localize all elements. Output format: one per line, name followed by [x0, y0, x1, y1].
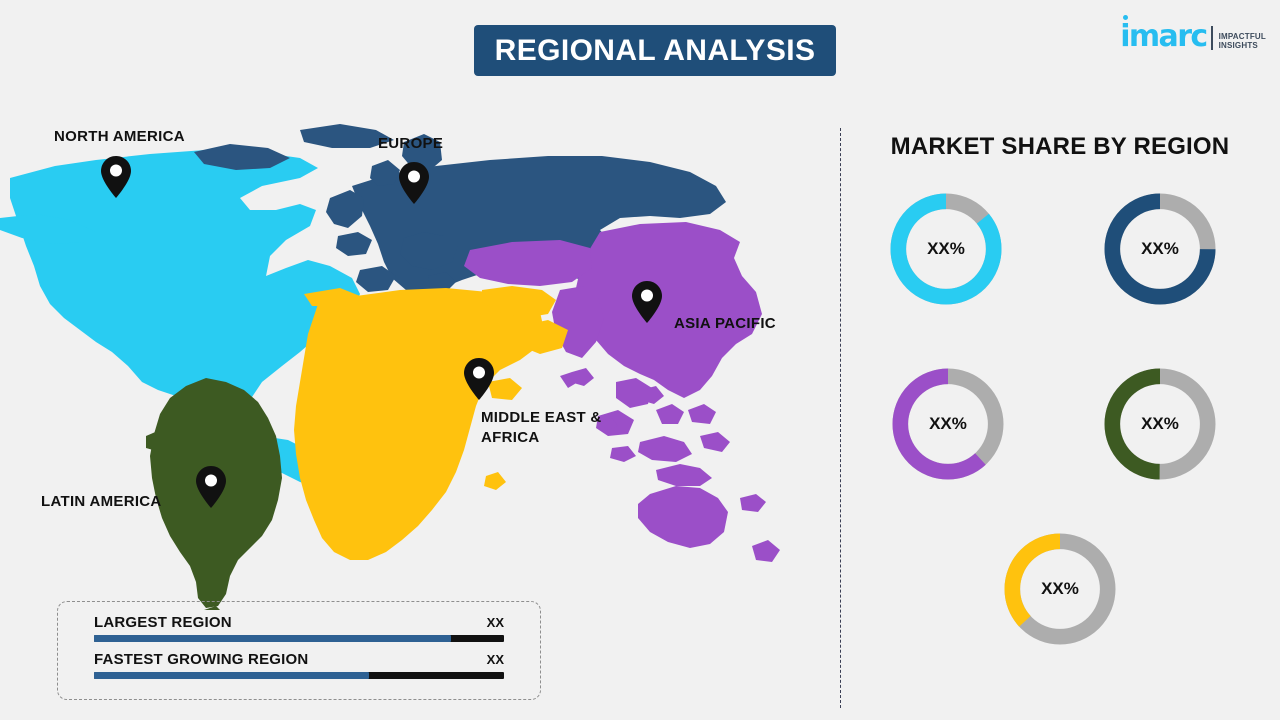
logo-divider [1211, 26, 1213, 50]
pin-middle-east-africa[interactable] [464, 358, 494, 400]
logo-wordmark: imarc [1120, 22, 1206, 52]
legend-row-largest-region: LARGEST REGION XX [94, 614, 504, 642]
infographic-root: REGIONAL ANALYSIS imarc IMPACTFUL INSIGH… [0, 0, 1280, 720]
pin-north-america[interactable] [101, 156, 131, 198]
legend-bar-fill-largest-region [94, 635, 451, 642]
map-label-north-america: NORTH AMERICA [54, 127, 185, 147]
logo-tagline-line1: IMPACTFUL [1219, 32, 1266, 41]
legend-value-fastest-growing-region: XX [487, 652, 504, 667]
donut-value-europe: XX% [1097, 186, 1223, 312]
map-label-asia-pacific: ASIA PACIFIC [674, 314, 776, 334]
donut-value-latin-america: XX% [1097, 361, 1223, 487]
donut-value-middle-east-africa: XX% [997, 526, 1123, 652]
map-label-middle-east-africa: MIDDLE EAST & AFRICA [481, 408, 602, 449]
legend-value-largest-region: XX [487, 615, 504, 630]
donut-chart-latin-america: XX% [1097, 361, 1223, 487]
imarc-logo: imarc IMPACTFUL INSIGHTS [1120, 22, 1266, 52]
legend-bar-fill-fastest-growing-region [94, 672, 369, 679]
logo-tagline: IMPACTFUL INSIGHTS [1219, 32, 1266, 52]
donut-value-asia-pacific: XX% [885, 361, 1011, 487]
world-map [0, 90, 830, 610]
pin-asia-pacific[interactable] [632, 281, 662, 323]
map-label-europe: EUROPE [378, 134, 443, 154]
pin-europe[interactable] [399, 162, 429, 204]
region-ranking-legend: LARGEST REGION XX FASTEST GROWING REGION… [57, 601, 541, 700]
legend-bar-fastest-growing-region [94, 672, 504, 679]
donut-chart-asia-pacific: XX% [885, 361, 1011, 487]
donut-chart-middle-east-africa: XX% [997, 526, 1123, 652]
legend-bar-largest-region [94, 635, 504, 642]
page-title-badge: REGIONAL ANALYSIS [474, 25, 836, 76]
pin-latin-america[interactable] [196, 466, 226, 508]
panel-divider [840, 128, 841, 708]
logo-tagline-line2: INSIGHTS [1219, 41, 1266, 50]
market-share-title: MARKET SHARE BY REGION [840, 133, 1280, 161]
donut-chart-europe: XX% [1097, 186, 1223, 312]
donut-chart-north-america: XX% [883, 186, 1009, 312]
page-title: REGIONAL ANALYSIS [495, 34, 816, 68]
legend-label-largest-region: LARGEST REGION [94, 614, 232, 631]
legend-row-fastest-growing-region: FASTEST GROWING REGION XX [94, 651, 504, 679]
legend-label-fastest-growing-region: FASTEST GROWING REGION [94, 651, 308, 668]
donut-value-north-america: XX% [883, 186, 1009, 312]
map-label-latin-america: LATIN AMERICA [41, 492, 162, 512]
